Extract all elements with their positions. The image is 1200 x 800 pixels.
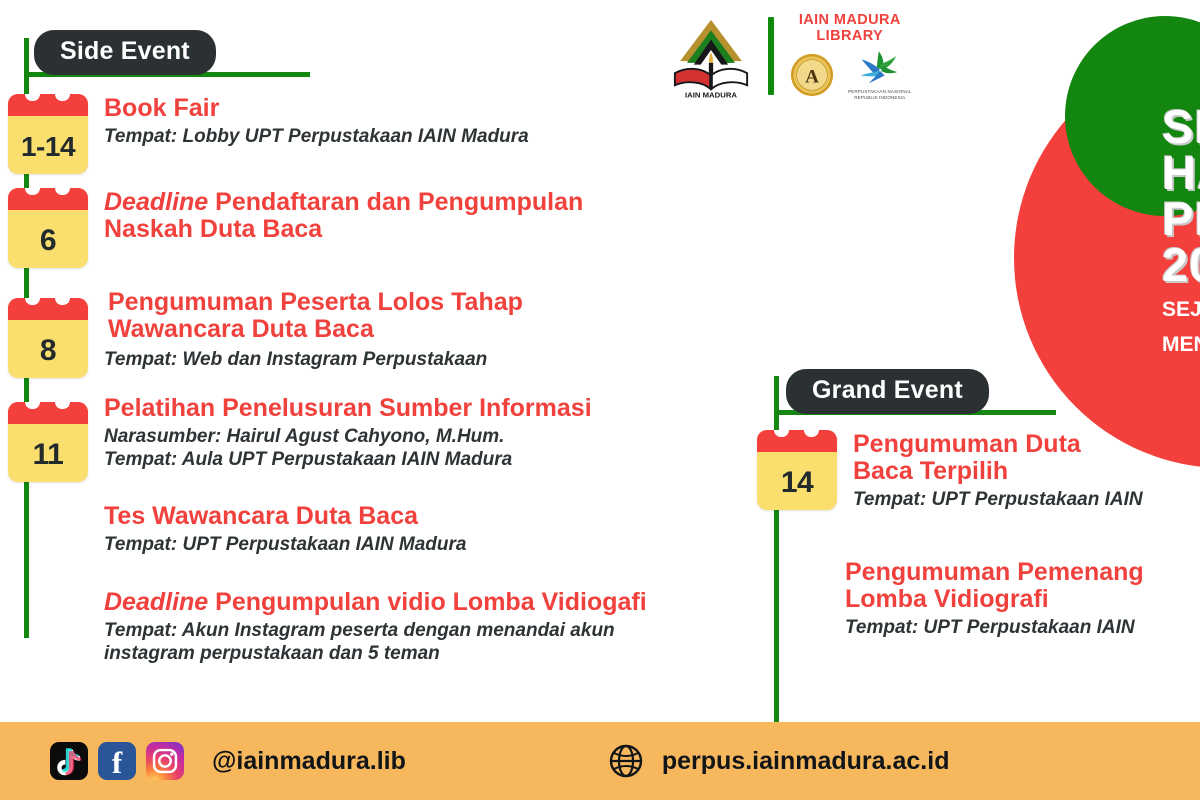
timeline-row: 8 Pengumuman Peserta Lolos Tahap Wawanca… — [8, 288, 523, 378]
event-meta: Narasumber: Hairul Agust Cahyono, M.Hum.… — [104, 425, 592, 471]
calendar-icon: 8 — [8, 298, 88, 378]
calendar-notch-left — [774, 430, 789, 437]
hero-title-block: SE HA PE 20 SEJU MENU — [1162, 104, 1200, 357]
instagram-icon[interactable] — [146, 742, 184, 780]
calendar-notch-right — [55, 402, 70, 409]
calendar-notch-left — [25, 402, 40, 409]
hero-subtitle-line-1: SEJU — [1162, 298, 1200, 322]
event-title-wrap: Deadline Pendaftaran dan Pengumpulan Nas… — [104, 189, 583, 243]
poster-canvas: SE HA PE 20 SEJU MENU IAIN MADURA IAIN M… — [0, 0, 1200, 800]
hero-title-line-2: HA — [1162, 150, 1200, 196]
iain-madura-logo: IAIN MADURA — [668, 13, 754, 99]
svg-text:IAIN MADURA: IAIN MADURA — [685, 91, 737, 100]
svg-text:A: A — [805, 66, 819, 87]
event-text-block: Pengumuman Duta Baca Terpilih Tempat: UP… — [837, 430, 1143, 511]
event-meta: Tempat: Web dan Instagram Perpustakaan — [104, 348, 523, 371]
tiktok-icon[interactable] — [50, 742, 88, 780]
calendar-day-number: 11 — [8, 428, 88, 482]
facebook-icon[interactable]: f — [98, 742, 136, 780]
event-text-block: Pengumuman Peserta Lolos Tahap Wawancara… — [88, 288, 523, 371]
library-title-line-2: LIBRARY — [799, 28, 901, 44]
timeline-row: 14 Pengumuman Duta Baca Terpilih Tempat:… — [757, 430, 1143, 511]
calendar-day-number: 14 — [757, 456, 837, 510]
timeline-row: 1-14 Book Fair Tempat: Lobby UPT Perpust… — [8, 94, 529, 174]
event-title: Pengumuman Peserta Lolos Tahap Wawancara… — [108, 289, 523, 343]
timeline-row: 11 Pelatihan Penelusuran Sumber Informas… — [8, 394, 592, 482]
perpusnas-badge-icon: PERPUSTAKAAN NASIONAL REPUBLIK INDONESIA — [848, 48, 912, 100]
calendar-notch-left — [25, 188, 40, 195]
calendar-top-band — [8, 298, 88, 320]
calendar-notch-right — [55, 298, 70, 305]
social-links-group: f @iainmadura.lib — [50, 742, 406, 780]
event-title-wrap: Deadline Pengumpulan vidio Lomba Vidioga… — [104, 589, 647, 616]
timeline-row: 6 Deadline Pendaftaran dan Pengumpulan N… — [8, 188, 583, 268]
hero-title-line-3: PE — [1162, 196, 1200, 242]
calendar-day-number: 8 — [8, 324, 88, 378]
event-meta: Tempat: UPT Perpustakaan IAIN Madura — [104, 533, 466, 556]
calendar-icon: 14 — [757, 430, 837, 510]
tab-grand-event[interactable]: Grand Event — [786, 369, 989, 414]
event-meta: Tempat: UPT Perpustakaan IAIN — [845, 616, 1144, 639]
calendar-notch-right — [55, 188, 70, 195]
event-text-block: Pelatihan Penelusuran Sumber Informasi N… — [88, 394, 592, 471]
facebook-glyph: f — [112, 747, 122, 778]
calendar-top-band — [757, 430, 837, 452]
accreditation-badge-icon: A — [788, 51, 836, 99]
event-deadline-label: Deadline — [104, 188, 208, 216]
calendar-top-band — [8, 402, 88, 424]
hero-subtitle-line-2: MENU — [1162, 333, 1200, 357]
calendar-icon: 1-14 — [8, 94, 88, 174]
library-title-line-1: IAIN MADURA — [799, 12, 901, 28]
logo-divider — [768, 17, 774, 95]
calendar-notch-right — [804, 430, 819, 437]
calendar-icon: 11 — [8, 402, 88, 482]
timeline-row: Pengumuman Pemenang Lomba Vidiografi Tem… — [757, 558, 1144, 639]
calendar-notch-right — [55, 94, 70, 101]
event-title: Book Fair — [104, 95, 529, 122]
event-title: Pengumuman Duta Baca Terpilih — [853, 431, 1143, 485]
calendar-top-band — [8, 188, 88, 210]
tab-side-event[interactable]: Side Event — [34, 30, 216, 75]
event-meta: Tempat: Akun Instagram peserta dengan me… — [104, 619, 647, 665]
footer-bar: f @iainmadura.lib p — [0, 722, 1200, 800]
globe-icon — [606, 741, 646, 781]
perpusnas-caption-line-2: REPUBLIK INDONESIA — [848, 95, 912, 101]
library-badges: A PERPUSTAKAAN NASIONAL REPUBLIK IND — [788, 48, 912, 100]
calendar-day-number: 1-14 — [8, 120, 88, 174]
event-text-block: Book Fair Tempat: Lobby UPT Perpustakaan… — [88, 94, 529, 148]
library-brand-block: IAIN MADURA LIBRARY A — [788, 12, 912, 101]
event-text-block: Deadline Pendaftaran dan Pengumpulan Nas… — [88, 188, 583, 246]
website-group: perpus.iainmadura.ac.id — [606, 741, 950, 781]
event-meta: Tempat: UPT Perpustakaan IAIN — [853, 488, 1143, 511]
calendar-top-band — [8, 94, 88, 116]
calendar-notch-left — [25, 298, 40, 305]
timeline-row: Tes Wawancara Duta Baca Tempat: UPT Perp… — [8, 502, 466, 556]
calendar-day-number: 6 — [8, 214, 88, 268]
timeline-row: Deadline Pengumpulan vidio Lomba Vidioga… — [8, 588, 647, 665]
event-text-block: Deadline Pengumpulan vidio Lomba Vidioga… — [8, 588, 647, 665]
event-deadline-label: Deadline — [104, 588, 208, 616]
calendar-icon: 6 — [8, 188, 88, 268]
website-text: perpus.iainmadura.ac.id — [662, 747, 950, 776]
event-text-block: Tes Wawancara Duta Baca Tempat: UPT Perp… — [8, 502, 466, 556]
event-title: Tes Wawancara Duta Baca — [104, 503, 466, 530]
hero-title-line-1: SE — [1162, 104, 1200, 150]
event-meta: Tempat: Lobby UPT Perpustakaan IAIN Madu… — [104, 125, 529, 148]
hero-title-line-4: 20 — [1162, 242, 1200, 288]
event-title: Pelatihan Penelusuran Sumber Informasi — [104, 395, 592, 422]
header-logos: IAIN MADURA IAIN MADURA LIBRARY — [668, 12, 912, 101]
event-title: Pengumpulan vidio Lomba Vidiogafi — [208, 588, 646, 616]
event-title: Pengumuman Pemenang Lomba Vidiografi — [845, 559, 1144, 613]
event-text-block: Pengumuman Pemenang Lomba Vidiografi Tem… — [757, 558, 1144, 639]
social-handle-text: @iainmadura.lib — [212, 747, 406, 776]
calendar-notch-left — [25, 94, 40, 101]
